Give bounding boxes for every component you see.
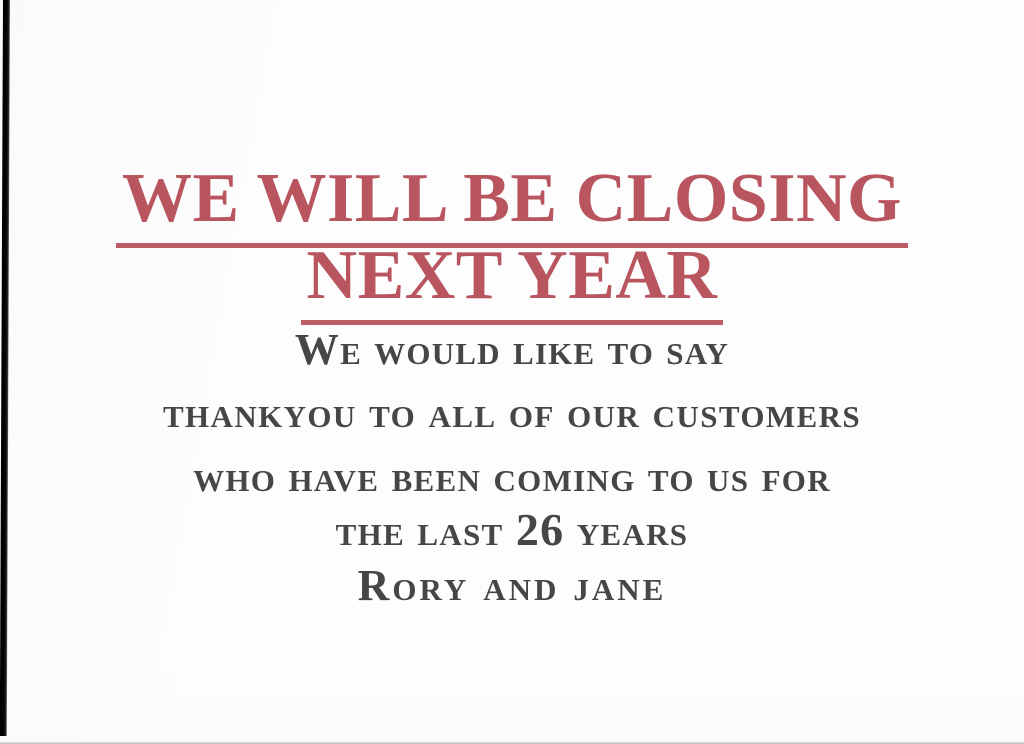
headline-line-2: NEXT YEAR — [0, 236, 1024, 325]
notice-text-block: WE WILL BE CLOSING NEXT YEAR We would li… — [0, 0, 1024, 744]
headline-line-1: WE WILL BE CLOSING — [0, 159, 1024, 248]
signature-line: Rory and jane — [0, 561, 1024, 611]
body-line-3: who have been coming to us for — [0, 452, 1024, 502]
years-count: 26 — [516, 504, 565, 555]
body-line-4-suffix: years — [564, 506, 688, 555]
body-line-4-prefix: the last — [336, 506, 516, 555]
body-line-4: the last 26 years — [0, 505, 1024, 556]
body-line-1: We would like to say — [0, 325, 1024, 375]
headline-line-2-text: NEXT YEAR — [307, 236, 718, 325]
body-line-2: thankyou to all of our customers — [0, 388, 1024, 438]
headline-line-1-text: WE WILL BE CLOSING — [122, 159, 902, 248]
scanned-notice-page: WE WILL BE CLOSING NEXT YEAR We would li… — [0, 0, 1024, 744]
